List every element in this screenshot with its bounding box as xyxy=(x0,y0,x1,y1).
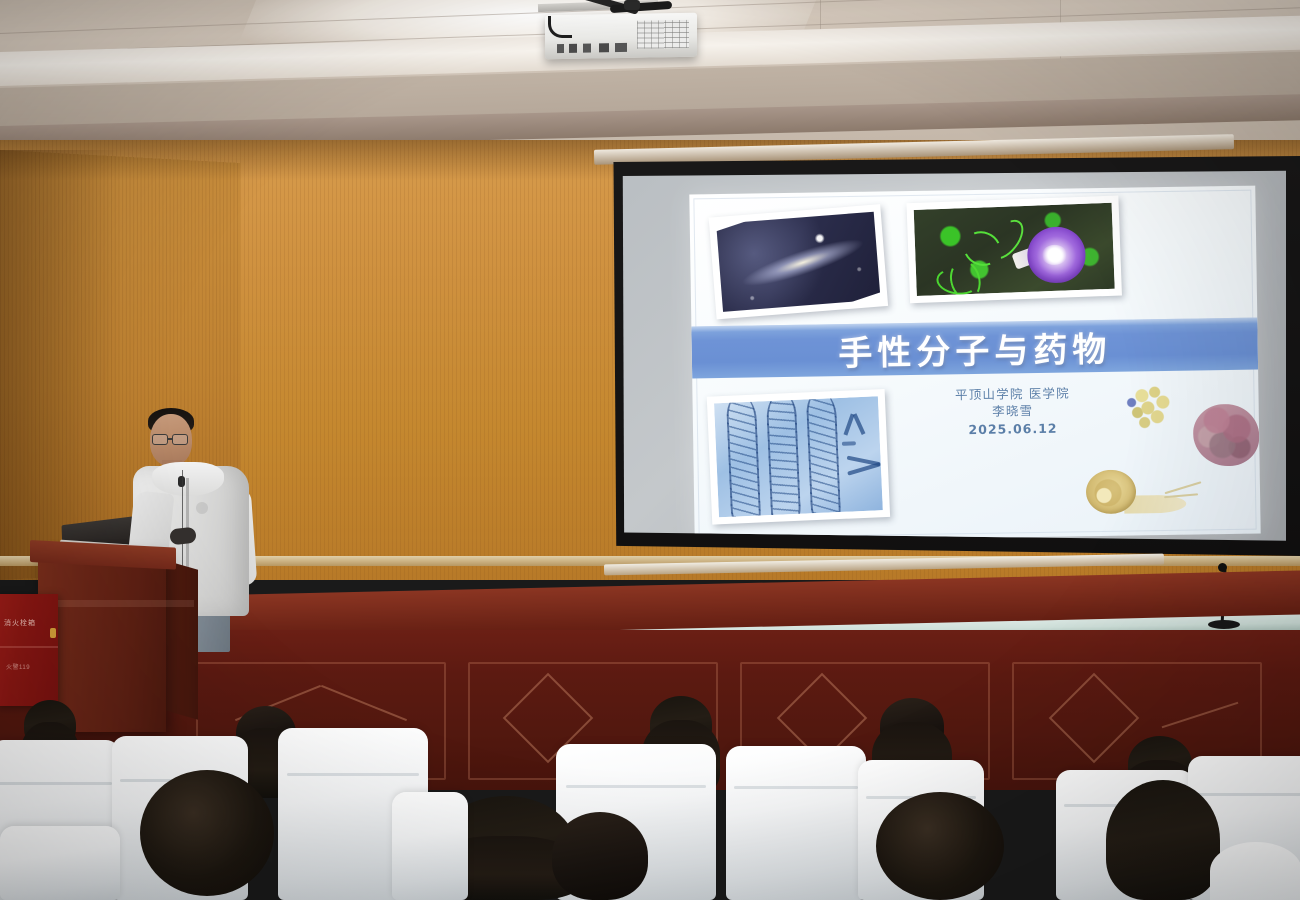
dna-helix xyxy=(766,396,802,517)
dna-helix xyxy=(726,396,762,517)
audience-shoulder xyxy=(1210,842,1300,900)
slide-subtitle-block: 平顶山学院 医学院 李晓雪 2025.06.12 xyxy=(902,384,1123,440)
seat-band xyxy=(734,786,857,789)
glasses-bridge xyxy=(168,438,173,440)
projector-adjust-knob xyxy=(624,0,640,10)
audience-head xyxy=(552,812,648,900)
microphone-head xyxy=(1218,563,1227,572)
galaxy-image xyxy=(716,212,880,312)
lectern-shelf-line xyxy=(44,600,194,607)
chromosome-arm xyxy=(847,462,881,475)
dna-photo xyxy=(707,389,890,525)
slide-title: 手性分子与药物 xyxy=(691,318,1258,379)
audience-seat xyxy=(392,792,468,900)
presenter-logo xyxy=(196,502,208,514)
galaxy-photo-inner xyxy=(716,212,880,312)
galaxy-photo xyxy=(709,204,888,319)
glasses-icon xyxy=(152,434,168,445)
seat-band xyxy=(1196,793,1300,796)
projection-screen: 手性分子与药物 xyxy=(598,156,1300,560)
projector-ports xyxy=(557,43,627,53)
morning-glory-photo xyxy=(906,196,1122,304)
audience-seat xyxy=(0,826,120,900)
fire-hose-cabinet-seam xyxy=(0,646,58,648)
morning-glory-image xyxy=(914,203,1115,296)
audience-seat xyxy=(726,746,866,900)
audience-head xyxy=(1106,780,1220,900)
slide-date: 2025.06.12 xyxy=(903,418,1123,440)
wall-left-shadow xyxy=(0,150,120,580)
glasses-icon xyxy=(172,434,188,445)
molecule-model xyxy=(1124,383,1183,440)
fire-hose-cabinet xyxy=(0,594,58,706)
cabinet-latch xyxy=(50,628,56,638)
presentation-slide: 手性分子与药物 xyxy=(689,186,1260,543)
audience-head xyxy=(140,770,274,896)
audience-head xyxy=(876,792,1004,900)
screen-surface: 手性分子与药物 xyxy=(612,170,1286,546)
dna-photo-inner xyxy=(714,396,883,517)
projector-vent-grille xyxy=(637,20,689,49)
chromosome-band xyxy=(842,441,856,446)
microphone-base xyxy=(1208,620,1240,629)
fire-hose-cabinet-sublabel: 火警119 xyxy=(6,662,50,670)
seat-band xyxy=(566,785,707,788)
dna-image xyxy=(714,396,883,517)
seat-band xyxy=(0,782,112,785)
lecture-hall-scene: 手性分子与药物 xyxy=(0,0,1300,900)
dna-helix xyxy=(806,396,842,517)
chromosome-arm xyxy=(853,413,866,435)
seat-band xyxy=(287,773,419,776)
morning-glory-photo-inner xyxy=(914,203,1115,296)
slide-title-band: 手性分子与药物 xyxy=(691,318,1258,379)
fire-hose-cabinet-label: 消火栓箱 xyxy=(4,618,50,626)
